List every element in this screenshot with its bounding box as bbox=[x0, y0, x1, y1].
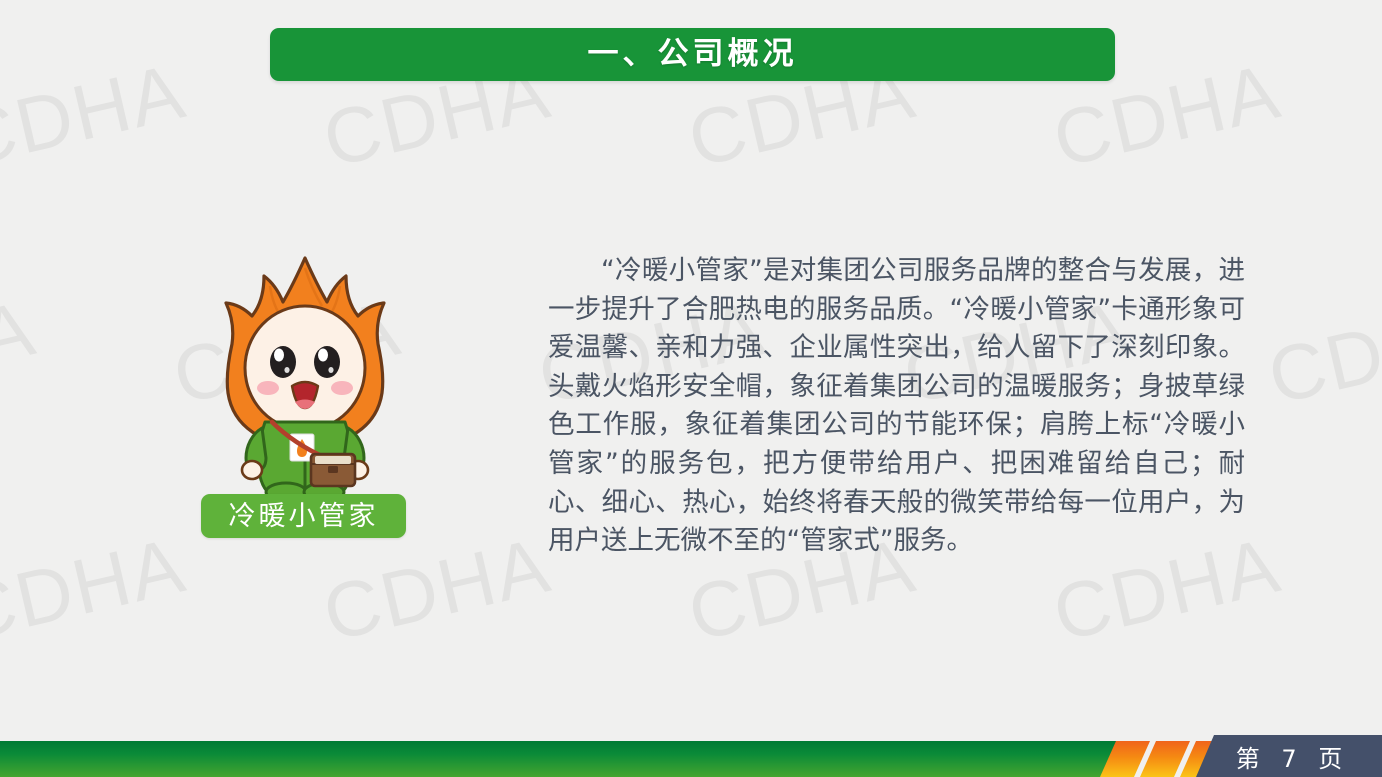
watermark-text: CDHA bbox=[0, 45, 194, 185]
slide-canvas: CDHACDHACDHACDHACDHACDHACDHACDHACDHACDHA… bbox=[0, 0, 1382, 777]
mascot-block: 冷暖小管家 bbox=[180, 250, 430, 550]
page-title: 一、公司概况 bbox=[588, 39, 798, 70]
body-paragraph: “冷暖小管家”是对集团公司服务品牌的整合与发展，进一步提升了合肥热电的服务品质。… bbox=[548, 252, 1245, 561]
watermark-text: CDHA bbox=[0, 519, 194, 659]
slide-footer: 第 7 页 bbox=[0, 735, 1382, 777]
watermark-text: CDHA bbox=[1260, 282, 1382, 422]
mascot-name-badge: 冷暖小管家 bbox=[201, 494, 406, 538]
watermark-text: CDHA bbox=[0, 282, 44, 422]
mascot-character-icon bbox=[180, 250, 430, 498]
footer-green-bar bbox=[0, 741, 1120, 777]
section-title-banner: 一、公司概况 bbox=[270, 28, 1115, 81]
mascot-name-text: 冷暖小管家 bbox=[229, 503, 379, 530]
page-number-label: 第 7 页 bbox=[1196, 735, 1382, 777]
